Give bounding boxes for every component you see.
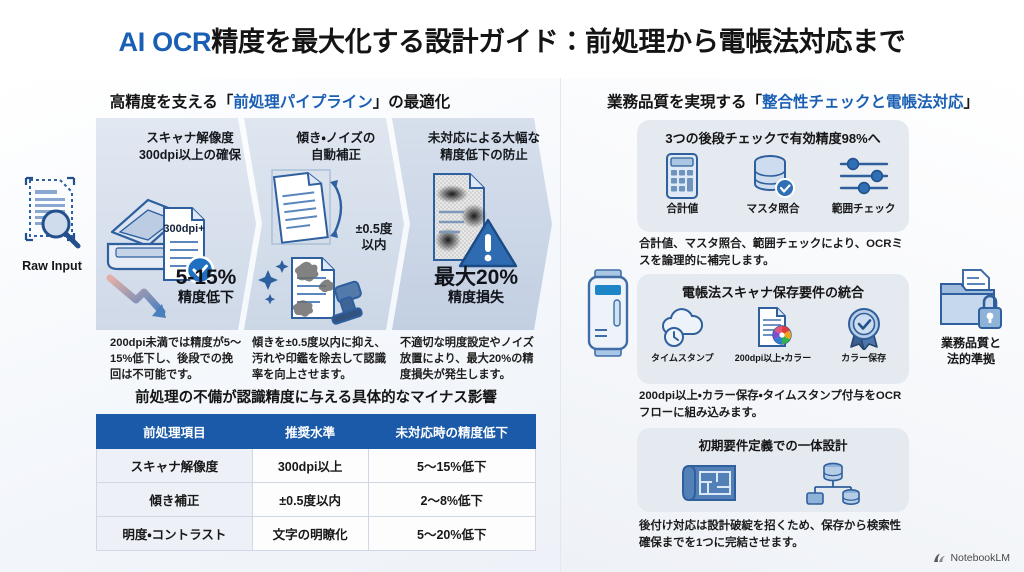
step-1-stat-num: 5-15% — [160, 266, 252, 290]
color-document-icon — [751, 306, 795, 350]
icon-caption: 範囲チェック — [819, 201, 909, 216]
icon-cell-timestamp: タイムスタンプ — [637, 306, 727, 364]
notebooklm-logo-icon — [933, 553, 946, 564]
step-1-note: 200dpi未満では精度が5〜15%低下し、後段での挽回は不可能です。 — [110, 336, 242, 384]
icon-cell-color-save: カラー保存 — [819, 306, 909, 364]
left-heading-pre: 高精度を支える「 — [110, 94, 234, 111]
database-check-icon — [750, 152, 796, 200]
step-3-stat-cap: 精度損失 — [402, 290, 550, 306]
table-cell: ±0.5度以内 — [252, 483, 368, 517]
table-cell: 明度・コントラスト — [97, 517, 253, 551]
table-header-row: 前処理項目 推奨水準 未対応時の精度低下 — [97, 415, 536, 449]
impact-table: 前処理項目 推奨水準 未対応時の精度低下 スキャナ解像度 300dpi以上 5〜… — [96, 414, 536, 551]
step-3-stat: 最大20% 精度損失 — [402, 266, 550, 305]
icon-caption: 200dpi以上・カラー — [728, 351, 818, 364]
raw-input-block: Raw Input — [8, 170, 96, 273]
icon-caption: タイムスタンプ — [637, 351, 727, 364]
table-col-header-0: 前処理項目 — [97, 415, 253, 449]
step-1-stat-cap: 精度低下 — [160, 290, 252, 306]
left-section-heading: 高精度を支える「前処理パイプライン」の最適化 — [0, 90, 560, 112]
step-2-title: 傾き・ノイズの自動補正 — [244, 130, 416, 163]
footer-brand: NotebookLM — [933, 552, 1010, 564]
table-col-header-2: 未対応時の精度低下 — [368, 415, 535, 449]
dpi-badge-text: 300dpi+ — [163, 223, 204, 235]
table-cell: 5〜15%低下 — [368, 449, 535, 483]
left-heading-post: 」の最適化 — [373, 94, 451, 111]
table-cell: スキャナ解像度 — [97, 449, 253, 483]
table-row: スキャナ解像度 300dpi以上 5〜15%低下 — [97, 449, 536, 483]
card-2-note: 200dpi以上・カラー保存・タイムスタンプ付与をOCRフローに組み込みます。 — [639, 388, 911, 421]
title-accent: AI OCR — [119, 27, 212, 57]
table-cell: 文字の明瞭化 — [252, 517, 368, 551]
step-3-stat-num: 最大20% — [402, 266, 550, 290]
footer-brand-text: NotebookLM — [950, 552, 1010, 564]
right-section-heading: 業務品質を実現する「整合性チェックと電帳法対応」 — [561, 90, 1024, 112]
compliance-block: 業務品質と法的準拠 — [925, 268, 1017, 367]
icon-cell-db-hierarchy — [788, 460, 878, 506]
icon-cell-color-dpi: 200dpi以上・カラー — [728, 306, 818, 364]
table-cell: 2〜8%低下 — [368, 483, 535, 517]
blueprint-icon — [681, 460, 745, 506]
table-col-header-1: 推奨水準 — [252, 415, 368, 449]
raw-document-magnifier-icon — [8, 170, 96, 256]
card-3-note: 後付け対応は設計破綻を招くため、保存から検索性確保までを1つに完結させます。 — [639, 518, 911, 551]
icon-caption: 合計値 — [637, 201, 727, 216]
icon-cell-blueprint — [668, 460, 758, 506]
card-3-icons — [637, 460, 909, 506]
card-3-title: 初期要件定義での一体設計 — [637, 428, 909, 454]
database-hierarchy-icon — [801, 460, 865, 506]
compliance-label: 業務品質と法的準拠 — [925, 336, 1017, 367]
card-2-title: 電帳法スキャナ保存要件の統合 — [637, 274, 909, 301]
right-heading-pre: 業務品質を実現する「 — [607, 94, 762, 111]
step-3-title: 未対応による大幅な精度低下の防止 — [392, 130, 564, 163]
calculator-icon — [661, 152, 703, 200]
card-2-icons: タイムスタンプ — [637, 306, 909, 364]
raw-input-label: Raw Input — [8, 259, 96, 273]
page-title: AI OCR精度を最大化する設計ガイド：前処理から電帳法対応まで — [119, 20, 906, 59]
icon-cell-total: 合計値 — [637, 152, 727, 216]
card-1-title: 3つの後段チェックで有効精度98%へ — [637, 120, 909, 147]
step-1-stat: 5-15% 精度低下 — [160, 266, 252, 305]
card-1-note: 合計値、マスタ照合、範囲チェックにより、OCRミスを論理的に補完します。 — [639, 236, 909, 269]
left-column: 高精度を支える「前処理パイプライン」の最適化 — [0, 78, 560, 572]
icon-caption: マスタ照合 — [728, 201, 818, 216]
table-cell: 5〜20%低下 — [368, 517, 535, 551]
card-denshichobo: 電帳法スキャナ保存要件の統合 タイムスタンプ — [637, 274, 909, 384]
right-heading-accent: 整合性チェックと電帳法対応 — [762, 94, 964, 111]
table-row: 明度・コントラスト 文字の明瞭化 5〜20%低下 — [97, 517, 536, 551]
title-bar: AI OCR精度を最大化する設計ガイド：前処理から電帳法対応まで — [0, 0, 1024, 78]
preprocess-steps: スキャナ解像度300dpi以上の確保 300dpi+ — [96, 118, 552, 330]
card-checks: 3つの後段チェックで有効精度98%へ 合計値 — [637, 120, 909, 232]
step-2-note: 傾きを±0.5度以内に抑え、汚れや印鑑を除去して認識率を向上させます。 — [252, 336, 392, 384]
table-cell: 傾き補正 — [97, 483, 253, 517]
cloud-clock-icon — [657, 306, 707, 350]
table-row: 傾き補正 ±0.5度以内 2〜8%低下 — [97, 483, 536, 517]
folder-lock-icon — [935, 268, 1007, 334]
step-1-art: 300dpi+ — [96, 166, 256, 330]
step-3-note: 不適切な明度設定やノイズ放置により、最大20%の精度損失が発生します。 — [400, 336, 540, 384]
step-3-art — [392, 166, 552, 330]
icon-caption: カラー保存 — [819, 351, 909, 364]
sliders-icon — [837, 152, 891, 200]
processing-server-icon — [583, 268, 633, 358]
noisy-document-warning-icon — [392, 166, 552, 330]
title-rest: 精度を最大化する設計ガイド：前処理から電帳法対応まで — [211, 27, 905, 57]
slide-root: AI OCR精度を最大化する設計ガイド：前処理から電帳法対応まで 高精度を支える… — [0, 0, 1024, 572]
right-column: 業務品質を実現する「整合性チェックと電帳法対応」 — [560, 78, 1024, 572]
icon-cell-master: マスタ照合 — [728, 152, 818, 216]
left-heading-accent: 前処理パイプライン — [233, 94, 373, 111]
ribbon-badge-icon — [842, 306, 886, 350]
server-unit-icon — [583, 268, 633, 358]
right-heading-post: 」 — [964, 94, 980, 111]
impact-table-caption: 前処理の不備が認識精度に与える具体的なマイナス影響 — [96, 386, 536, 407]
scanner-icon: 300dpi+ — [96, 166, 256, 330]
table-cell: 300dpi以上 — [252, 449, 368, 483]
icon-cell-range: 範囲チェック — [819, 152, 909, 216]
card-initial-design: 初期要件定義での一体設計 — [637, 428, 909, 512]
card-1-icons: 合計値 マスタ照合 — [637, 152, 909, 216]
